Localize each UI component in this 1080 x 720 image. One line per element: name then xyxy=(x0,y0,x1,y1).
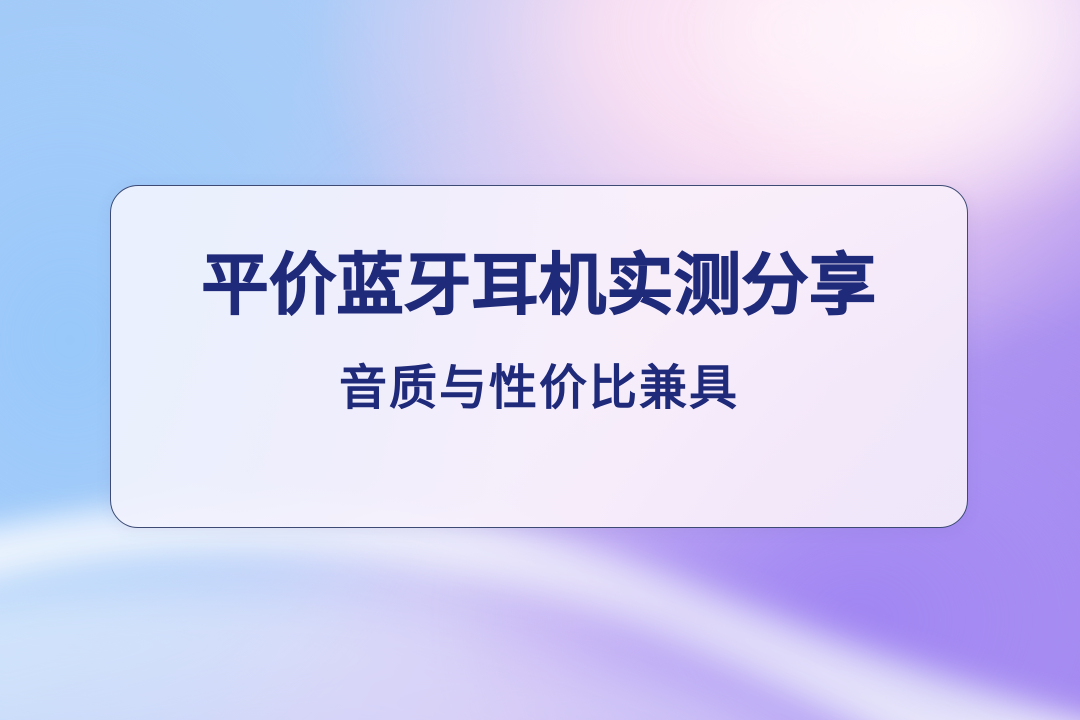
title-slide: 平价蓝牙耳机实测分享 音质与性价比兼具 xyxy=(0,0,1080,720)
page-subtitle: 音质与性价比兼具 xyxy=(111,365,967,413)
page-title: 平价蓝牙耳机实测分享 xyxy=(111,252,967,319)
title-card: 平价蓝牙耳机实测分享 音质与性价比兼具 xyxy=(110,185,968,528)
